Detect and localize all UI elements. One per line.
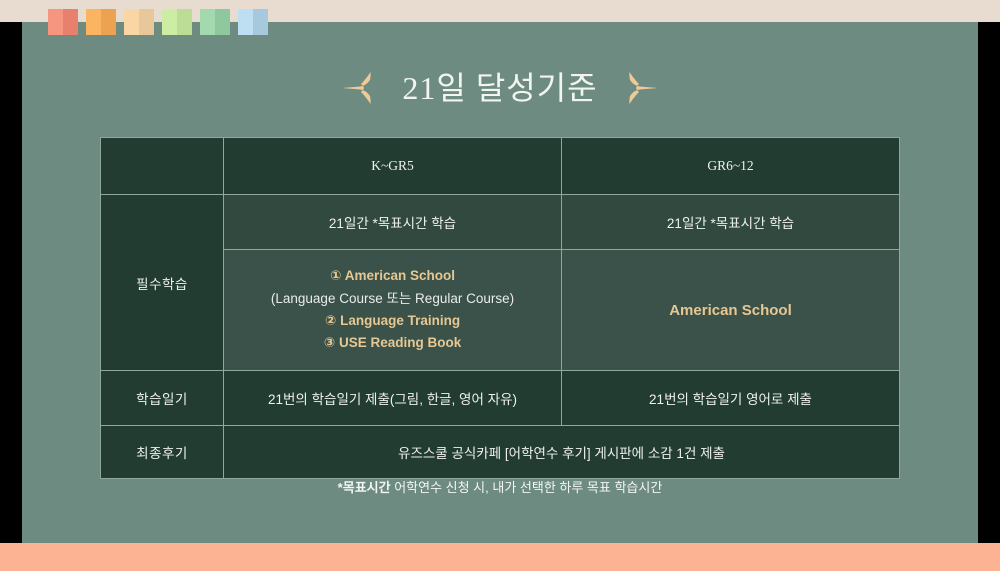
criteria-table: K~GR5 GR6~12 필수학습 21일간 *목표시간 학습 21일간 *목표…: [100, 137, 900, 479]
row-label-final-review: 최종후기: [101, 426, 224, 479]
required-study-col2-courses: American School: [562, 250, 900, 371]
row-label-study-diary: 학습일기: [101, 371, 224, 426]
course-line-1: ① American School: [225, 265, 560, 287]
header-col2: GR6~12: [562, 138, 900, 195]
required-study-col1-courses: ① American School (Language Course 또는 Re…: [224, 250, 562, 371]
footnote-description: 어학연수 신청 시, 내가 선택한 하루 목표 학습시간: [394, 480, 662, 495]
table-row: 필수학습 21일간 *목표시간 학습 21일간 *목표시간 학습: [101, 195, 900, 250]
slide-canvas: 21일 달성기준 K~GR5 GR6~12 필수학습 21일간 *목표시간 학습…: [22, 22, 978, 543]
page-title: 21일 달성기준: [402, 72, 597, 104]
course-line-4: ③ USE Reading Book: [225, 332, 560, 354]
course-line-american-school: American School: [563, 302, 898, 319]
header-corner-cell: [101, 138, 224, 195]
swatch-orange: [86, 9, 116, 35]
study-diary-col2: 21번의 학습일기 영어로 제출: [562, 371, 900, 426]
swatch-blue: [238, 9, 268, 35]
swatch-green: [200, 9, 230, 35]
required-study-col2-time: 21일간 *목표시간 학습: [562, 195, 900, 250]
swatch-salmon: [48, 9, 78, 35]
table-row: 최종후기 유즈스쿨 공식카페 [어학연수 후기] 게시판에 소감 1건 제출: [101, 426, 900, 479]
bottom-decorative-band: [0, 543, 1000, 571]
row-label-required-study: 필수학습: [101, 195, 224, 371]
slide-root: 21일 달성기준 K~GR5 GR6~12 필수학습 21일간 *목표시간 학습…: [0, 0, 1000, 571]
sparkle-icon-left: [340, 70, 380, 106]
sparkle-icon-right: [620, 70, 660, 106]
footnote: *목표시간 어학연수 신청 시, 내가 선택한 하루 목표 학습시간: [22, 477, 978, 496]
color-swatch-strip: [48, 9, 268, 35]
header-col1: K~GR5: [224, 138, 562, 195]
footnote-term: *목표시간: [338, 480, 391, 495]
swatch-peach: [124, 9, 154, 35]
final-review-merged-cell: 유즈스쿨 공식카페 [어학연수 후기] 게시판에 소감 1건 제출: [224, 426, 900, 479]
swatch-lime: [162, 9, 192, 35]
study-diary-col1: 21번의 학습일기 제출(그림, 한글, 영어 자유): [224, 371, 562, 426]
course-line-2: (Language Course 또는 Regular Course): [225, 288, 560, 310]
table-row: 학습일기 21번의 학습일기 제출(그림, 한글, 영어 자유) 21번의 학습…: [101, 371, 900, 426]
course-line-3: ② Language Training: [225, 310, 560, 332]
slide-title-row: 21일 달성기준: [22, 70, 978, 106]
required-study-col1-time: 21일간 *목표시간 학습: [224, 195, 562, 250]
table-header-row: K~GR5 GR6~12: [101, 138, 900, 195]
criteria-table-wrapper: K~GR5 GR6~12 필수학습 21일간 *목표시간 학습 21일간 *목표…: [100, 137, 900, 479]
